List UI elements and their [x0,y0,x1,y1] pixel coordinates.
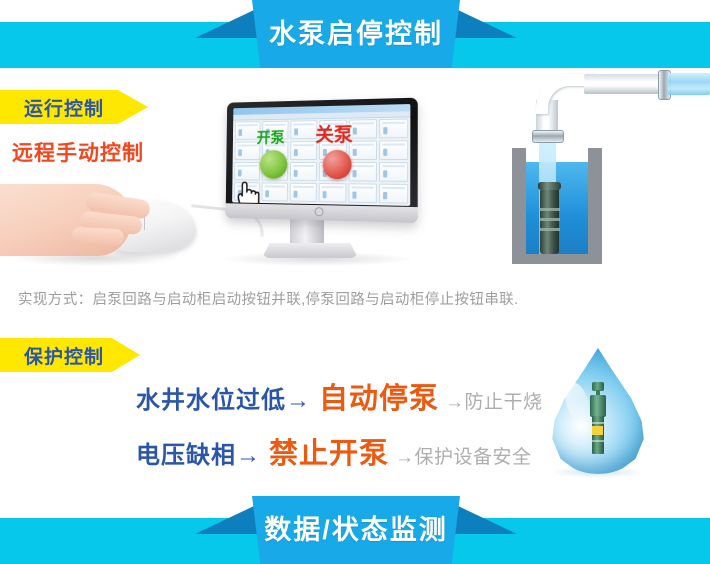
run-control-tag-label: 运行控制 [0,94,104,121]
pump-band [539,218,560,221]
well-wall-right [588,148,602,264]
pump-band [539,228,560,231]
rule-action: 自动停泵 [319,375,439,417]
well-pump-illustration [492,62,710,270]
close-pump-label: 关泵 [315,126,353,145]
implementation-note: 实现方式：启泵回路与启动柜启动按钮并联,停泵回路与启动柜停止按钮串联. [18,288,519,309]
bottom-banner-title: 数据/状态监测 [264,517,448,544]
scada-panel-cell [349,119,377,139]
rule-condition: 水井水位过低→ [136,380,311,415]
scada-panel-cell [234,162,260,181]
scada-panel-cell [349,141,377,160]
bottom-banner-plate: 数据/状态监测 [252,496,460,564]
hand-cursor-icon [236,181,260,206]
scada-panel-cell [261,182,288,201]
rule-effect: →防止干烧 [445,387,543,414]
top-banner-plate: 水泵启停控制 [252,0,460,68]
water-droplet-illustration [546,348,650,474]
scada-panel-cell [290,183,317,202]
monitor-illustration: 开泵 关泵 [206,100,426,270]
red-stop-button[interactable] [323,150,352,179]
protect-control-tag: 保护控制 [0,338,140,372]
rule-action: 禁止开泵 [269,430,389,472]
scada-panel-cell [290,141,317,160]
monitor-screen: 开泵 关泵 [232,104,410,206]
droplet-pump-icon [588,382,608,454]
protection-rule-row: 水井水位过低→ 自动停泵 →防止干烧 [136,375,543,417]
top-banner-title: 水泵启停控制 [269,21,443,48]
protect-control-tag-label: 保护控制 [0,342,104,369]
bottom-banner: 数据/状态监测 [0,496,710,564]
pipe-transparent-section [668,73,710,95]
hand-mouse-illustration [0,178,200,278]
finger-ring [72,227,125,247]
droplet-pump-mid [590,395,606,417]
pump-band [539,208,560,211]
monitor-base [262,243,358,258]
droplet-pump-line [592,422,604,424]
droplet-pump-line [592,440,604,442]
scada-panel-cell [348,183,377,203]
scada-panel-cell [379,162,408,182]
open-pump-label: 开泵 [257,131,285,146]
remote-manual-subtitle: 远程手动控制 [12,137,144,167]
run-control-tag: 运行控制 [0,90,148,124]
top-banner: 水泵启停控制 [0,0,710,68]
scada-panel-cell [319,183,347,203]
scada-panel-cell [379,119,408,139]
monitor-bezel: 开泵 关泵 [226,98,418,223]
pipe-collar-lower [532,130,564,143]
page-root: 水泵启停控制 运行控制 远程手动控制 [0,0,710,564]
scada-panel-cell [379,184,408,204]
submersible-pump-cap [538,182,561,190]
submersible-pump-body [540,188,559,254]
droplet-pump-nameplate [592,426,603,435]
pipe-horizontal [584,74,666,94]
rule-condition: 电压缺相→ [136,435,261,470]
monitor-power-dot [315,207,324,216]
rule-effect: →保护设备安全 [395,442,532,469]
scada-panel-cell [290,120,317,139]
scada-panel-cell [348,162,376,182]
scada-panel-cell [379,140,408,160]
well-wall-left [512,148,526,264]
scada-panel-cell [290,162,317,181]
protection-rule-row: 电压缺相→ 禁止开泵 →保护设备安全 [136,430,532,472]
